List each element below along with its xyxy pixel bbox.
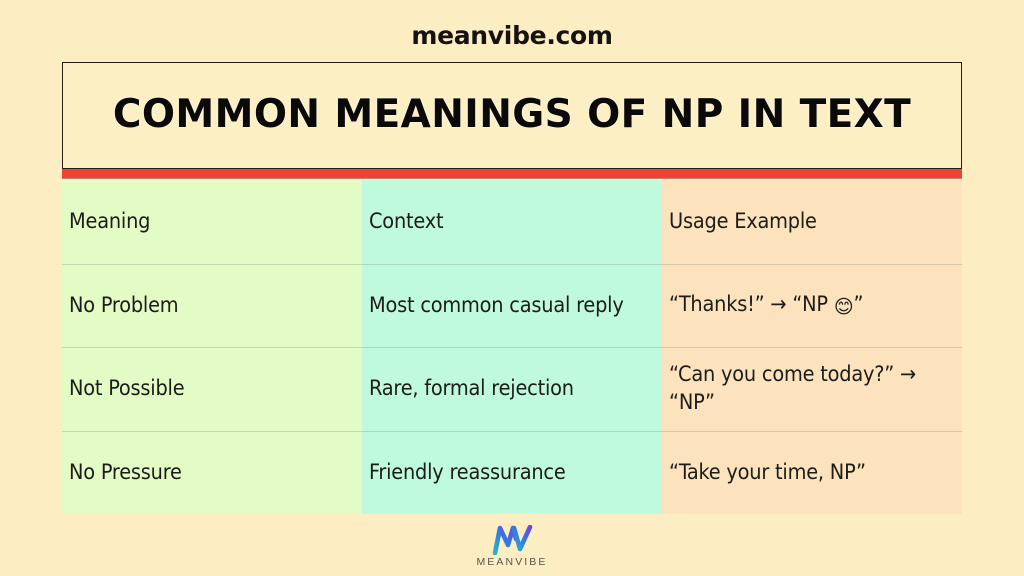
table-header-row: Meaning Context Usage Example [62,180,962,264]
column-header-context: Context [362,180,662,264]
footer-brand: MEANVIBE [0,516,1024,576]
cell-context: Rare, formal rejection [362,347,662,431]
column-header-usage-example: Usage Example [662,180,962,264]
cell-meaning: No Problem [62,264,362,348]
usage-text-prefix: “Thanks!” → “NP [669,292,834,317]
site-watermark: meanvibe.com [0,20,1024,52]
table-row: No Pressure Friendly reassurance “Take y… [62,431,962,515]
cell-meaning: Not Possible [62,347,362,431]
table-row: Not Possible Rare, formal rejection “Can… [62,347,962,431]
slide-canvas: meanvibe.com COMMON MEANINGS OF NP IN TE… [0,0,1024,576]
page-title: COMMON MEANINGS OF NP IN TEXT [113,95,911,136]
smiling-face-icon: 😊 [834,295,854,320]
cell-usage-example: “Can you come today?” → “NP” [662,347,962,431]
cell-usage-example: “Take your time, NP” [662,431,962,515]
cell-usage-example: “Thanks!” → “NP 😊” [662,264,962,348]
title-card: COMMON MEANINGS OF NP IN TEXT [62,62,962,169]
brand-wordmark: MEANVIBE [476,556,547,568]
table-row: No Problem Most common casual reply “Tha… [62,264,962,348]
cell-context: Most common casual reply [362,264,662,348]
cell-context: Friendly reassurance [362,431,662,515]
title-accent-bar [62,169,962,178]
meanings-table: Meaning Context Usage Example No Problem… [62,180,962,514]
column-header-meaning: Meaning [62,180,362,264]
cell-meaning: No Pressure [62,431,362,515]
meanvibe-logo-icon [489,525,535,555]
usage-text-suffix: ” [853,292,863,317]
